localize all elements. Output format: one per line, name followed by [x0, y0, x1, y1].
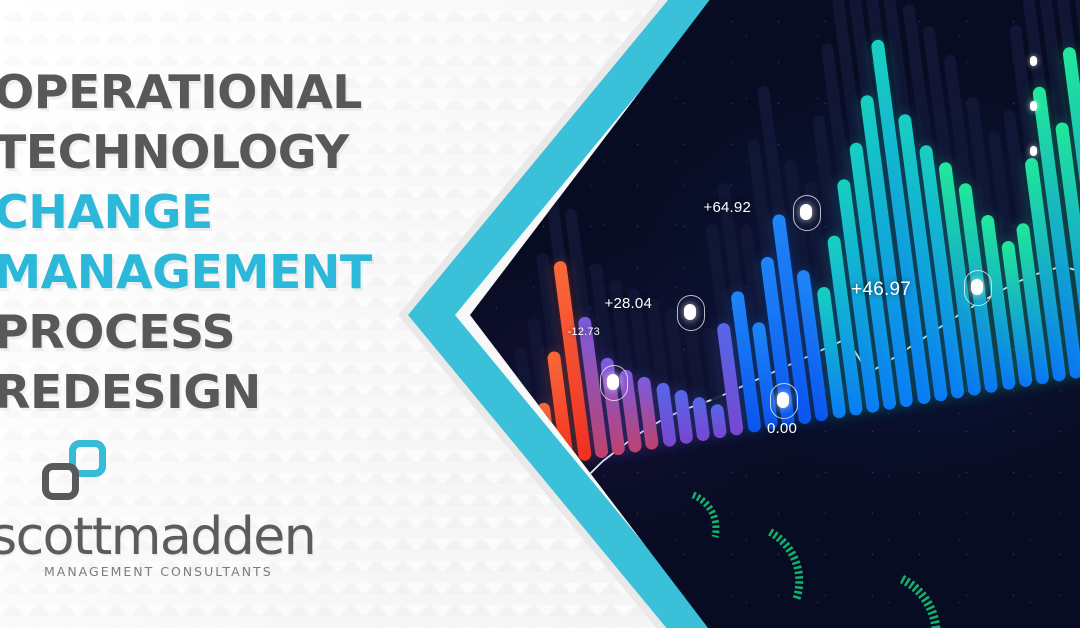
arc-gauge-icon: [685, 485, 735, 545]
promo-banner: -12.73+28.04+64.920.00+46.97 OPERATIONAL…: [0, 0, 1080, 628]
headline-line-6: REDESIGN: [0, 362, 437, 422]
brand-logo: scottmadden MANAGEMENT CONSULTANTS: [0, 440, 315, 579]
interlocking-squares-icon: [42, 440, 106, 504]
three-dots-icon[interactable]: [1030, 56, 1037, 156]
arc-gauge-icon: [760, 520, 830, 610]
arc-gauge-icon: [890, 565, 970, 628]
logo-wordmark: scottmadden: [0, 508, 315, 566]
headline-line-1: OPERATIONAL: [0, 62, 437, 122]
logo-square-grey: [42, 463, 79, 500]
headline-line-3: CHANGE: [0, 182, 437, 242]
page-title: OPERATIONAL TECHNOLOGY CHANGE MANAGEMENT…: [0, 62, 424, 422]
headline-line-2: TECHNOLOGY: [0, 122, 437, 182]
headline-line-4: MANAGEMENT: [0, 242, 437, 302]
headline-line-5: PROCESS: [0, 302, 437, 362]
